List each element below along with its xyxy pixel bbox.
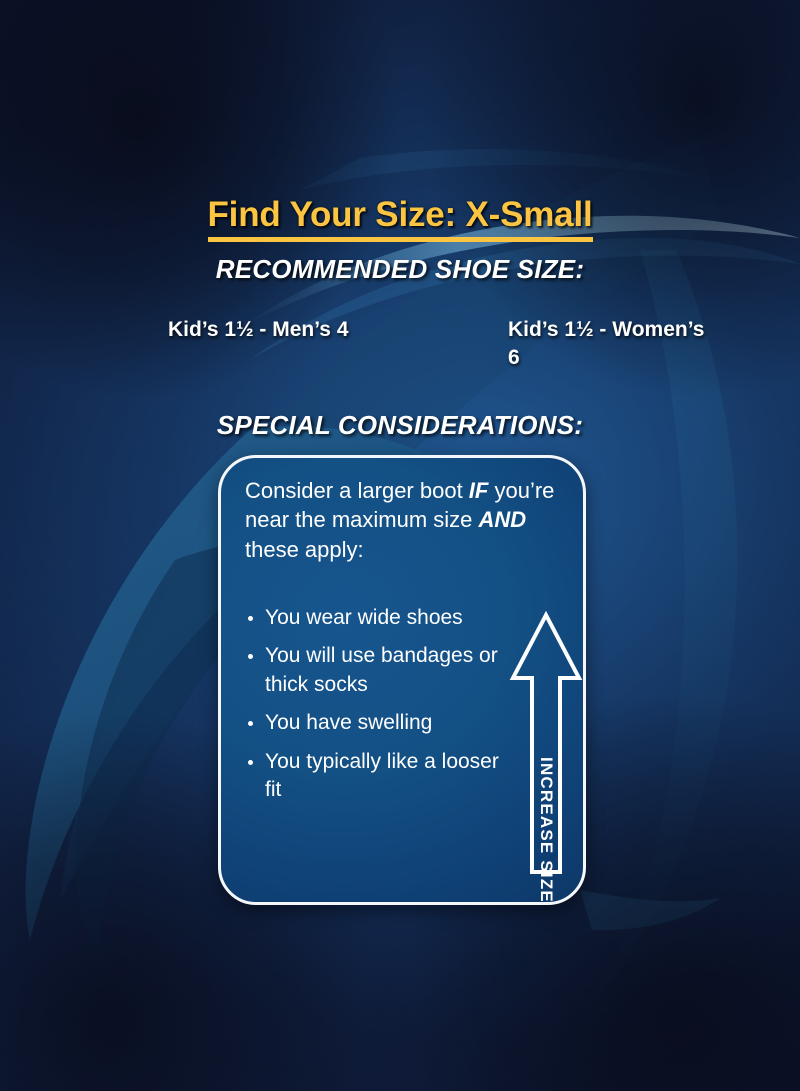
poster-content: Find Your Size: X-Small RECOMMENDED SHOE…	[0, 0, 800, 1091]
special-considerations-heading: SPECIAL CONSIDERATIONS:	[0, 410, 800, 441]
considerations-inner: Consider a larger boot IF you’re near th…	[221, 458, 583, 902]
considerations-bullet-list: You wear wide shoes You will use bandage…	[245, 604, 503, 805]
increase-size-arrow: INCREASE SIZE	[508, 610, 584, 878]
page-title: Find Your Size: X-Small	[208, 196, 593, 242]
page-title-wrap: Find Your Size: X-Small	[0, 196, 800, 242]
special-considerations-box: Consider a larger boot IF you’re near th…	[218, 455, 586, 905]
recommended-shoe-size-heading: RECOMMENDED SHOE SIZE:	[0, 254, 800, 285]
lead-text-3: these apply:	[245, 537, 364, 562]
lead-emphasis-and: AND	[479, 507, 527, 532]
list-item: You typically like a looser fit	[245, 748, 503, 805]
recommended-sizes: Kid’s 1½ - Men’s 4 Kid’s 1½ - Women’s 6	[168, 316, 708, 373]
size-kids-mens: Kid’s 1½ - Men’s 4	[168, 316, 349, 344]
lead-text-1: Consider a larger boot	[245, 478, 469, 503]
considerations-lead: Consider a larger boot IF you’re near th…	[245, 476, 561, 564]
list-item: You will use bandages or thick socks	[245, 642, 503, 699]
list-item: You have swelling	[245, 709, 503, 738]
size-guide-poster: Find Your Size: X-Small RECOMMENDED SHOE…	[0, 0, 800, 1091]
size-kids-womens: Kid’s 1½ - Women’s 6	[508, 316, 708, 373]
list-item: You wear wide shoes	[245, 604, 503, 633]
lead-emphasis-if: IF	[469, 478, 489, 503]
up-arrow-icon	[508, 610, 584, 878]
